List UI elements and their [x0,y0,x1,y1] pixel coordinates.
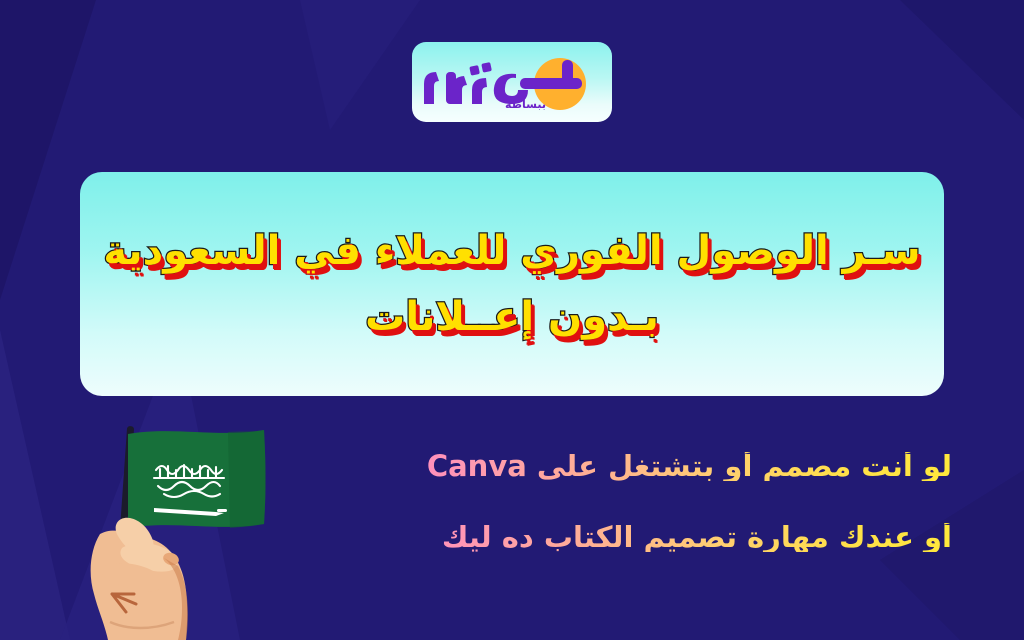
logo-badge[interactable]: ببساطة [412,42,612,122]
flag-shade [228,430,266,528]
logo-tagline: ببساطة [505,99,546,110]
promo-copy: لو أنت مصمم أو بتشتغل على Canva أو عندك … [332,452,952,552]
hand [91,518,188,640]
hero-card: سـر الوصول الفوري للعملاء في السعودية بـ… [80,172,944,396]
hero-headline-line-2: بـدون إعــلانات [365,292,659,342]
promo-line-1: لو أنت مصمم أو بتشتغل على Canva [332,452,952,481]
hand-holding-saudi-flag-illustration [78,408,308,640]
promo-line-2: أو عندك مهارة تصميم الكتاب ده ليك [332,523,952,552]
hero-headline-line-1: سـر الوصول الفوري للعملاء في السعودية [103,226,920,276]
